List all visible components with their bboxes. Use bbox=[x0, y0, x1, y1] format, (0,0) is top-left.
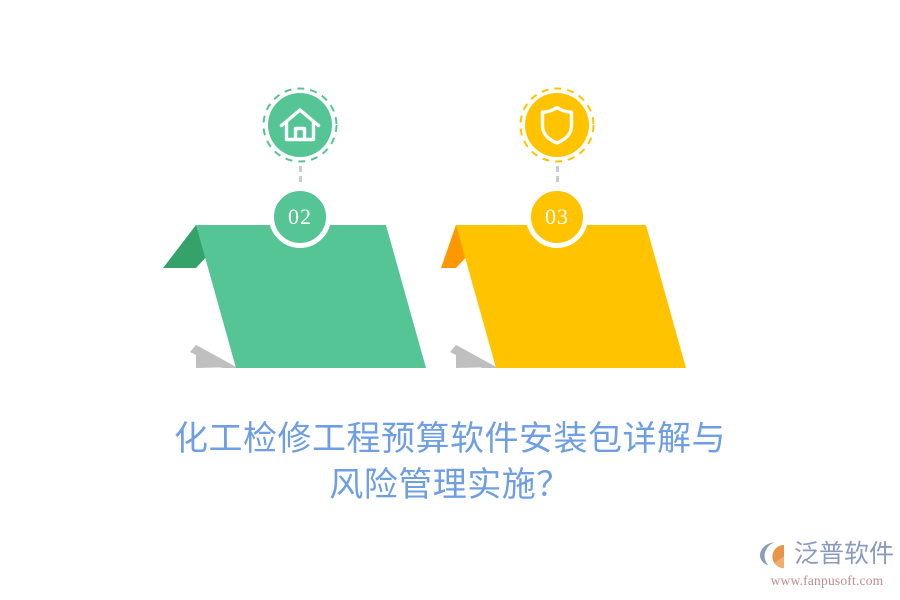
banner-face-green bbox=[196, 225, 426, 368]
page-title-line-1: 化工检修工程预算软件安装包详解与 bbox=[0, 416, 900, 462]
page-title: 化工检修工程预算软件安装包详解与 风险管理实施？ bbox=[0, 416, 900, 508]
poster-canvas: 02 03 bbox=[0, 0, 900, 600]
page-title-line-2: 风险管理实施？ bbox=[0, 462, 900, 508]
banner-face-yellow bbox=[456, 225, 686, 368]
brand-logo[interactable]: 泛普软件 www.fanpusoft.com bbox=[757, 536, 897, 592]
step-number-label-2: 03 bbox=[545, 204, 569, 230]
step-icon-node-2[interactable] bbox=[518, 86, 596, 164]
step-icon-node-1[interactable] bbox=[261, 86, 339, 164]
shield-icon bbox=[525, 93, 589, 157]
brand-url: www.fanpusoft.com bbox=[757, 573, 897, 589]
step-number-badge-1[interactable]: 02 bbox=[269, 186, 331, 248]
brand-logo-row: 泛普软件 bbox=[757, 536, 897, 572]
fanpu-logo-mark-icon bbox=[757, 539, 793, 569]
home-icon bbox=[268, 93, 332, 157]
step-number-label-1: 02 bbox=[288, 204, 312, 230]
banner-group bbox=[0, 0, 900, 600]
step-number-badge-2[interactable]: 03 bbox=[526, 186, 588, 248]
banner-shapes bbox=[0, 0, 900, 600]
brand-name: 泛普软件 bbox=[794, 539, 894, 569]
